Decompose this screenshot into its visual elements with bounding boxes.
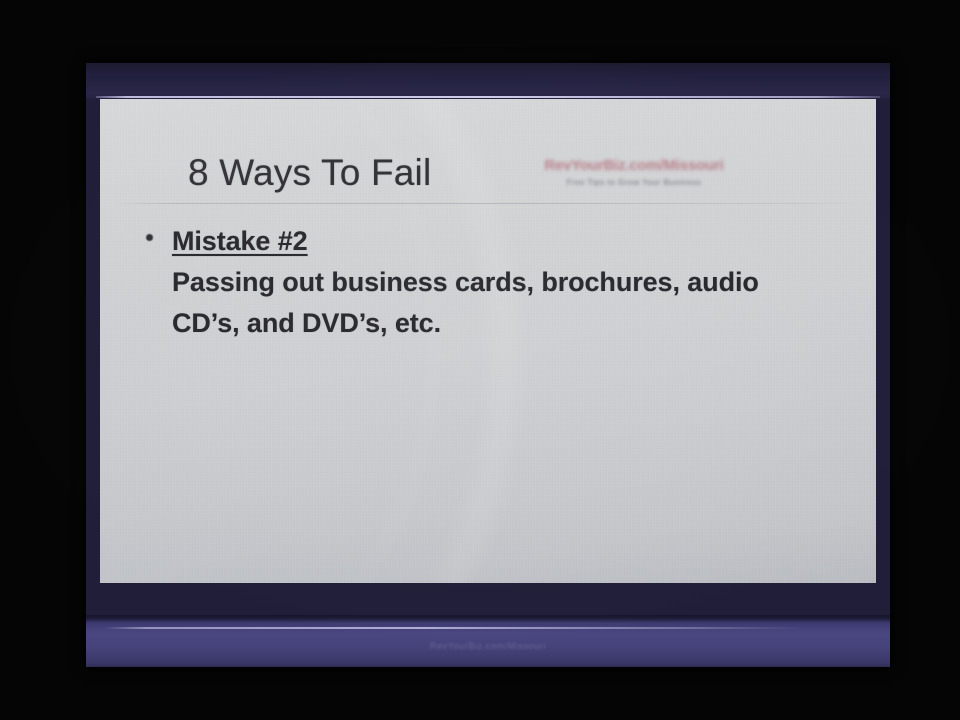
slide-title: 8 Ways To Fail <box>188 152 431 194</box>
brand-logo-name: RevYourBiz.com/Missouri <box>520 157 748 174</box>
bullet-line-2: CD’s, and DVD’s, etc. <box>172 303 846 344</box>
presentation-slide-frame: 8 Ways To Fail RevYourBiz.com/Missouri F… <box>86 63 890 667</box>
title-separator-line <box>114 203 862 204</box>
brand-logo: RevYourBiz.com/Missouri Free Tips to Gro… <box>520 157 748 187</box>
video-player-stage: 8 Ways To Fail RevYourBiz.com/Missouri F… <box>0 0 960 720</box>
frame-bottom-band: RevYourBiz.com/Missouri <box>86 615 890 667</box>
slide-title-row: 8 Ways To Fail RevYourBiz.com/Missouri F… <box>100 99 876 207</box>
slide-body: Mistake #2 Passing out business cards, b… <box>126 221 846 344</box>
bullet-line-1: Passing out business cards, brochures, a… <box>172 262 846 303</box>
frame-top-highlight-line <box>96 96 880 98</box>
brand-logo-tagline: Free Tips to Grow Your Business <box>520 178 748 187</box>
bullet-item: Mistake #2 Passing out business cards, b… <box>126 221 846 344</box>
bullet-point-icon <box>146 234 153 241</box>
slide-footer-text: RevYourBiz.com/Missouri <box>86 641 890 651</box>
frame-bottom-highlight-line <box>104 627 804 629</box>
bullet-heading: Mistake #2 <box>172 221 846 262</box>
slide-canvas: 8 Ways To Fail RevYourBiz.com/Missouri F… <box>100 99 876 583</box>
